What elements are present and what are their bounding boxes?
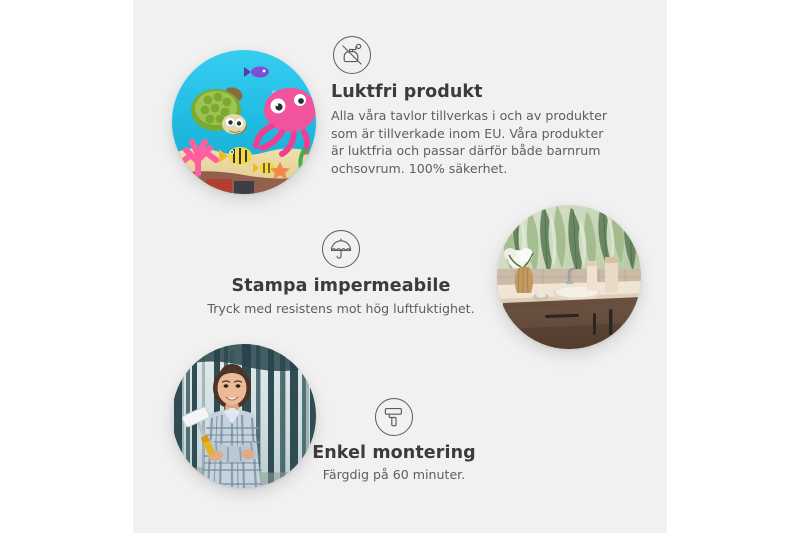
photo-sea-mural (172, 50, 316, 194)
paint-roller-icon (375, 398, 413, 436)
feature-title: Enkel montering (299, 443, 489, 463)
feature-description: Tryck med resistens mot hög luftfuktighe… (196, 300, 486, 318)
feature-easy-mounting: Enkel montering Färgdig på 60 minuter. (299, 398, 489, 484)
photo-painter (172, 344, 316, 488)
feature-description: Alla våra tavlor tillverkas i och av pro… (331, 107, 620, 177)
umbrella-icon (322, 230, 360, 268)
feature-description: Färgdig på 60 minuter. (299, 466, 489, 484)
feature-title: Stampa impermeabile (196, 276, 486, 296)
photo-bathroom (497, 205, 641, 349)
painter-photo-illustration (172, 344, 316, 488)
feature-title: Luktfri produkt (331, 82, 631, 102)
promo-infographic: Luktfri produkt Alla våra tavlor tillver… (0, 0, 800, 533)
sea-mural-illustration (172, 50, 316, 194)
feature-waterproof: Stampa impermeabile Tryck med resistens … (196, 230, 486, 318)
no-fragrance-icon (333, 36, 371, 74)
bathroom-photo-illustration (497, 205, 641, 349)
feature-odourless: Luktfri produkt Alla våra tavlor tillver… (331, 36, 631, 177)
